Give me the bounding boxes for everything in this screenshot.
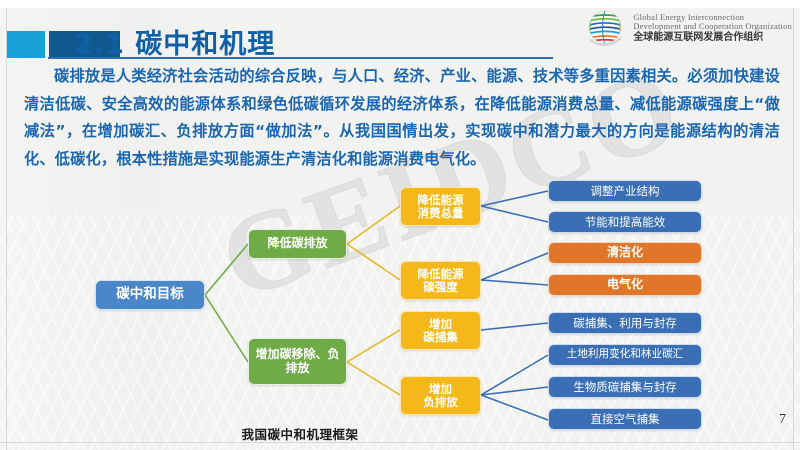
node-action-cleanification[interactable]: 清洁化 <box>548 242 702 264</box>
carbon-neutrality-framework-diagram: 碳中和目标 降低碳排放 增加碳移除、负排放 降低能源消费总量 降低能源碳强度 增… <box>0 175 800 425</box>
node-action-energy-saving-efficiency[interactable]: 节能和提高能效 <box>548 211 702 233</box>
page-number: 7 <box>779 412 786 428</box>
logo-english-line-2: Development and Cooperation Organization <box>633 22 792 31</box>
node-action-ccus[interactable]: 碳捕集、利用与封存 <box>548 312 702 334</box>
title-accent-light <box>7 31 45 58</box>
node-action-adjust-industrial-structure[interactable]: 调整产业结构 <box>548 180 702 202</box>
logo-chinese-line: 全球能源互联网发展合作组织 <box>633 33 792 44</box>
node-action-beccs[interactable]: 生物质碳捕集与封存 <box>548 376 702 398</box>
slide-canvas: GEIDCO 2.1 碳中和机理 <box>0 0 800 450</box>
node-measure-reduce-energy-consumption[interactable]: 降低能源消费总量 <box>400 187 481 226</box>
organization-logo: Global Energy Interconnection Developmen… <box>584 6 792 50</box>
node-branch-reduce-emissions[interactable]: 降低碳排放 <box>248 229 347 259</box>
node-measure-reduce-carbon-intensity[interactable]: 降低能源碳强度 <box>400 261 481 300</box>
title-underline <box>48 57 553 59</box>
node-root[interactable]: 碳中和目标 <box>95 280 205 310</box>
node-branch-increase-removal[interactable]: 增加碳移除、负排放 <box>248 338 347 385</box>
globe-icon <box>584 7 626 49</box>
page-title: 2.1 碳中和机理 <box>74 22 275 61</box>
logo-text-block: Global Energy Interconnection Developmen… <box>633 13 792 43</box>
node-action-electrification[interactable]: 电气化 <box>548 274 702 296</box>
node-measure-increase-carbon-capture[interactable]: 增加碳捕集 <box>400 311 481 350</box>
body-paragraph: 碳排放是人类经济社会活动的综合反映，与人口、经济、产业、能源、技术等多重因素相关… <box>24 63 780 173</box>
figure-caption: 我国碳中和机理框架 <box>0 424 600 443</box>
node-measure-increase-negative-emissions[interactable]: 增加负排放 <box>400 376 481 415</box>
node-action-lulucf[interactable]: 土地利用变化和林业碳汇 <box>548 344 702 366</box>
